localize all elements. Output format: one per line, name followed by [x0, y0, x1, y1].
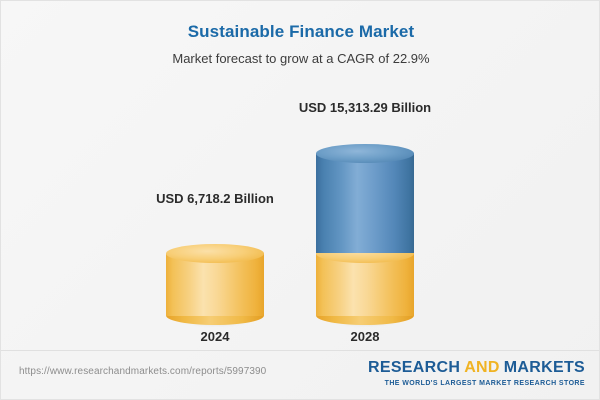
chart-header: Sustainable Finance Market Market foreca… [1, 1, 600, 69]
logo-word-markets: MARKETS [504, 359, 585, 376]
source-url[interactable]: https://www.researchandmarkets.com/repor… [19, 366, 266, 377]
bar-group-2024: USD 6,718.2 Billion 2024 [135, 91, 295, 346]
bar-segment-yellow-2028 [316, 244, 414, 316]
cylinder-top-cap [316, 144, 414, 163]
bar-segment-yellow-2024 [166, 244, 264, 316]
chart-subtitle: Market forecast to grow at a CAGR of 22.… [1, 49, 600, 69]
bar-group-2028: USD 15,313.29 Billion 2028 [285, 91, 445, 346]
bar-category-label-2028: 2028 [285, 329, 445, 344]
bar-cylinder-2028[interactable] [316, 144, 414, 316]
bar-value-label-2028: USD 15,313.29 Billion [285, 100, 445, 115]
logo-word-and: AND [464, 359, 500, 376]
logo-wordmark: RESEARCHANDMARKETS [368, 359, 585, 377]
bar-segment-blue-2028 [316, 144, 414, 253]
research-and-markets-logo[interactable]: RESEARCHANDMARKETS THE WORLD'S LARGEST M… [368, 359, 585, 389]
chart-footer: https://www.researchandmarkets.com/repor… [1, 351, 600, 400]
chart-title: Sustainable Finance Market [1, 21, 600, 43]
infographic-card: Sustainable Finance Market Market foreca… [0, 0, 600, 400]
chart-plot-area: USD 6,718.2 Billion 2024 USD 15,313.29 B… [1, 91, 600, 346]
logo-tagline: THE WORLD'S LARGEST MARKET RESEARCH STOR… [368, 379, 585, 389]
bar-category-label-2024: 2024 [135, 329, 295, 344]
cylinder-body [316, 153, 414, 253]
bar-cylinder-2024[interactable] [166, 244, 264, 316]
cylinder-top-cap [166, 244, 264, 263]
logo-word-research: RESEARCH [368, 359, 460, 376]
bar-value-label-2024: USD 6,718.2 Billion [135, 191, 295, 206]
